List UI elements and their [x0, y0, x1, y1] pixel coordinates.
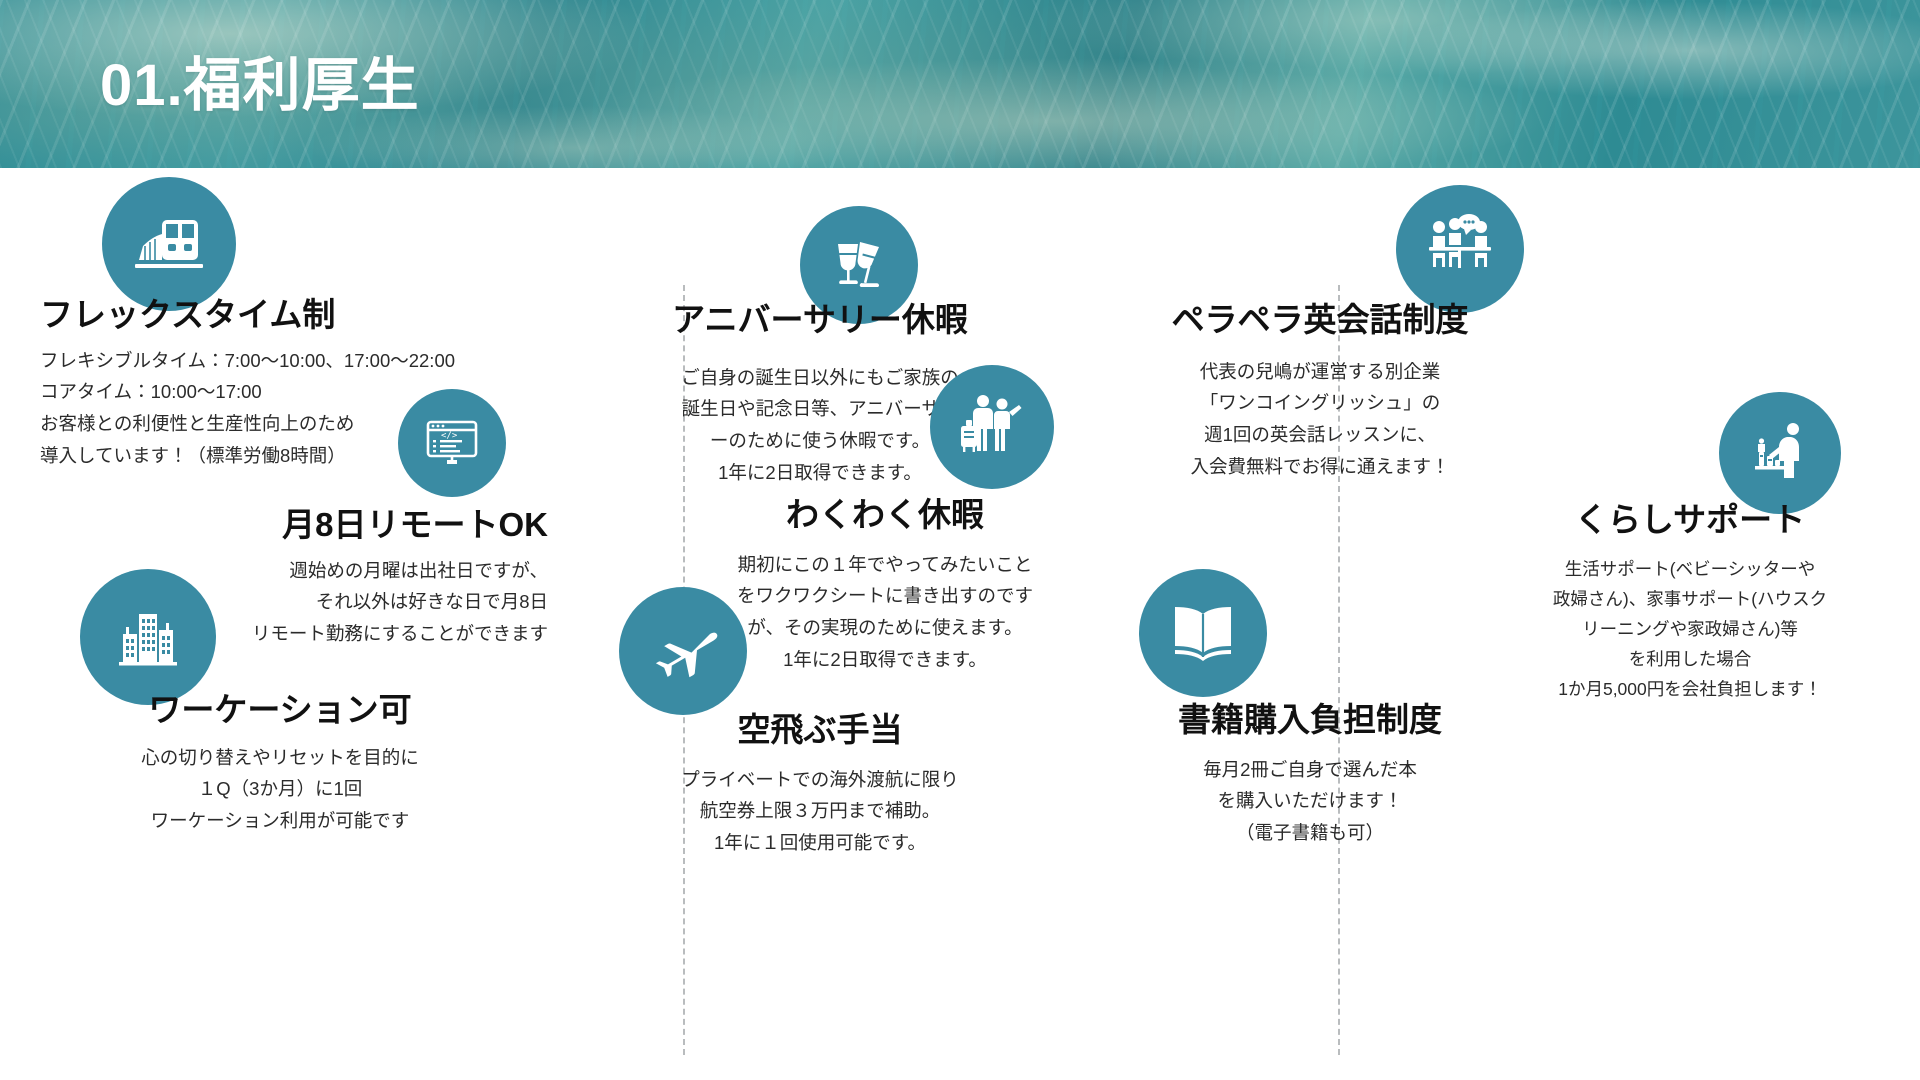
benefit-line: お客様との利便性と生産性向上のため [40, 413, 354, 434]
benefit-heading: ペラペラ英会話制度 [1110, 300, 1530, 340]
benefit-line: 毎月2冊ご自身で選んだ本 [1203, 759, 1417, 780]
benefit-line: 代表の兒嶋が運営する別企業 [1200, 361, 1441, 382]
benefit-line: フレキシブルタイム：7:00〜10:00、17:00〜22:00 [40, 350, 455, 371]
code-monitor-icon: </> [398, 389, 506, 497]
benefit-line: 航空券上限３万円まで補助。 [700, 800, 941, 821]
benefit-line: ご自身の誕生日以外にもご家族の [681, 367, 959, 388]
benefit-line: 週1回の英会話レッスンに、 [1204, 424, 1436, 445]
benefit-line: 政婦さん)、家事サポート(ハウスク [1553, 589, 1827, 609]
benefit-line: プライベートでの海外渡航に限り [681, 769, 959, 790]
open-book-icon [1139, 569, 1267, 697]
benefit-wakuwaku-leave: わくわく休暇 期初にこの１年でやってみたいこと をワクワクシートに書き出すのです… [690, 495, 1080, 676]
benefit-workation: ワーケーション可 心の切り替えやリセットを目的に １Q（3か月）に1回 ワーケー… [20, 690, 540, 837]
svg-text:</>: </> [441, 431, 458, 441]
page-title: 01.福利厚生 [100, 38, 420, 122]
benefit-line: 1年に１回使用可能です。 [714, 832, 926, 853]
benefit-line: ワーケーション利用が可能です [151, 810, 410, 831]
benefit-line: 週始めの月曜は出社日ですが、 [289, 560, 548, 581]
benefit-line: リモート勤務にすることができます [252, 623, 548, 644]
benefit-line: 期初にこの１年でやってみたいこと [738, 554, 1033, 575]
benefit-heading: ワーケーション可 [20, 690, 540, 730]
benefit-line: 1年に2日取得できます。 [783, 649, 987, 670]
meeting-discussion-icon [1396, 185, 1524, 313]
benefit-line: 誕生日や記念日等、アニバーサリ [682, 398, 959, 419]
benefit-line: 入会費無料でお得に通えます！ [1190, 456, 1449, 477]
benefit-line: コアタイム：10:00〜17:00 [40, 381, 262, 402]
benefit-line: 導入しています！（標準労働8時間） [40, 445, 346, 466]
benefit-line: （電子書籍も可） [1236, 822, 1384, 843]
airplane-icon [619, 587, 747, 715]
benefit-english-lesson: ペラペラ英会話制度 代表の兒嶋が運営する別企業 「ワンコイングリッシュ」の 週1… [1110, 300, 1530, 483]
benefit-line: １Q（3か月）に1回 [198, 778, 362, 799]
benefit-line: リーニングや家政婦さん)等 [1582, 619, 1798, 639]
benefit-line: 生活サポート(ベビーシッターや [1565, 559, 1815, 579]
train-icon [102, 177, 236, 311]
benefit-line: をワクワクシートに書き出すのです [737, 585, 1033, 606]
benefit-heading: フレックスタイム制 [40, 295, 560, 335]
housekeeping-icon [1719, 392, 1841, 514]
benefit-line: を購入いただけます！ [1217, 790, 1402, 811]
benefit-heading: アニバーサリー休暇 [560, 300, 1080, 340]
benefit-heading: 空飛ぶ手当 [560, 710, 1080, 750]
benefit-line: を利用した場合 [1629, 649, 1752, 669]
benefit-line: 「ワンコイングリッシュ」の [1200, 392, 1441, 413]
benefit-line: 1年に2日取得できます。 [718, 462, 922, 483]
city-buildings-icon [80, 569, 216, 705]
benefit-heading: 書籍購入負担制度 [1110, 700, 1510, 740]
travelers-luggage-icon [930, 365, 1054, 489]
benefit-book-purchase: 書籍購入負担制度 毎月2冊ご自身で選んだ本 を購入いただけます！ （電子書籍も可… [1110, 700, 1510, 849]
benefit-living-support: くらしサポート 生活サポート(ベビーシッターや 政婦さん)、家事サポート(ハウス… [1470, 500, 1910, 704]
benefit-heading: わくわく休暇 [690, 495, 1080, 535]
benefit-heading: 月8日リモートOK [60, 505, 548, 545]
benefit-line: 1か月5,000円を会社負担します！ [1558, 679, 1822, 699]
benefit-line: それ以外は好きな日で月8日 [316, 591, 548, 612]
page-header-banner: 01.福利厚生 [0, 0, 1920, 168]
benefit-line: ーのために使う休暇です。 [710, 430, 930, 451]
benefit-line: 心の切り替えやリセットを目的に [141, 747, 419, 768]
benefit-heading: くらしサポート [1470, 500, 1910, 540]
benefit-line: が、その実現のために使えます。 [747, 617, 1022, 638]
benefit-flight-allowance: 空飛ぶ手当 プライベートでの海外渡航に限り 航空券上限３万円まで補助。 1年に１… [560, 710, 1080, 859]
